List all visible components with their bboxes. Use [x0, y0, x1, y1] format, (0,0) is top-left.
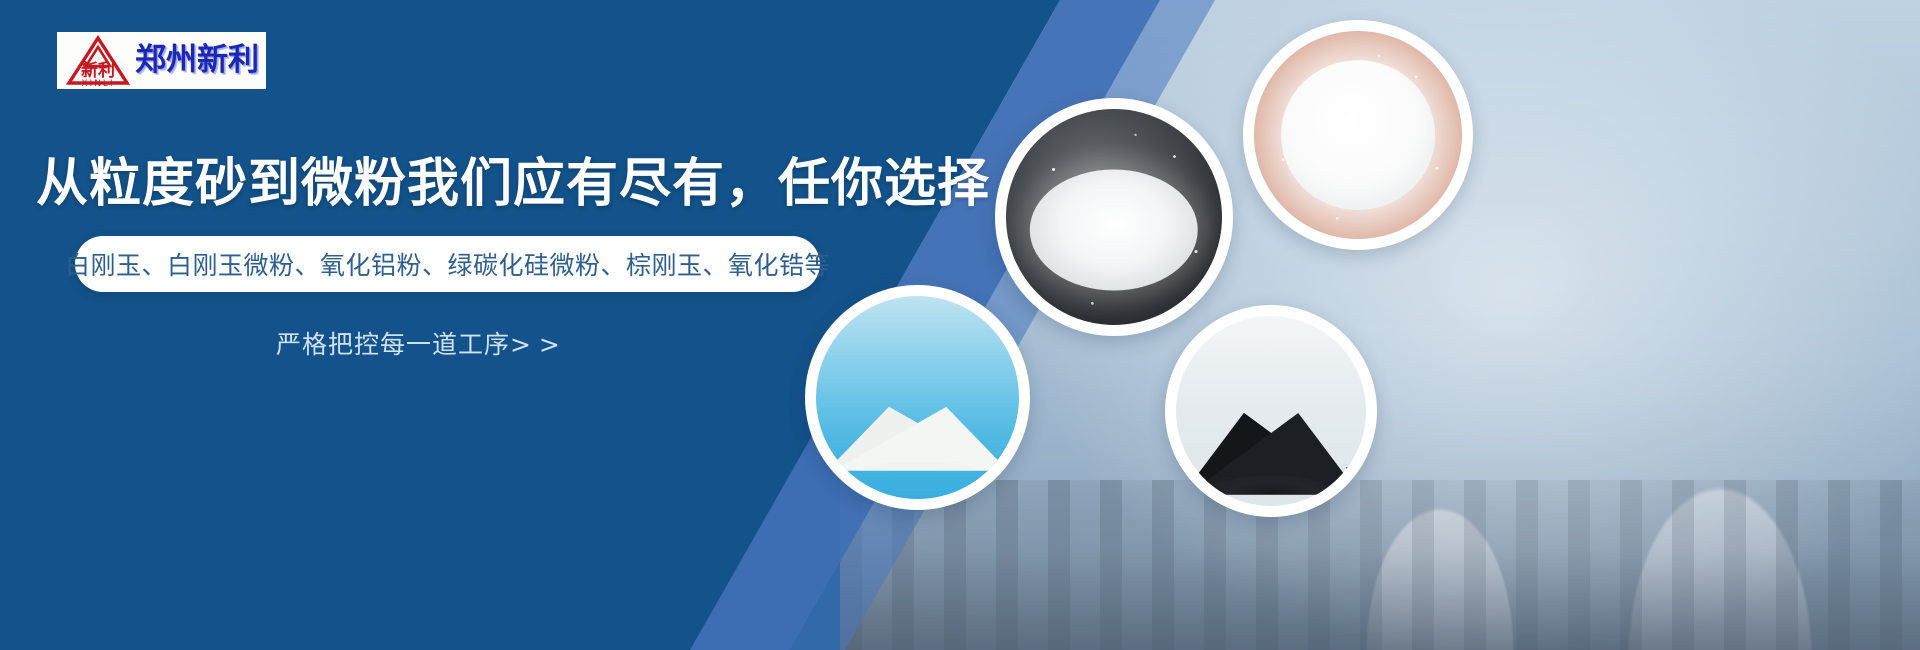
photo-inner: [1176, 316, 1366, 506]
xinli-triangle-mark-icon: 新利 XINLI: [65, 34, 131, 87]
cta-link[interactable]: 严格把控每一道工序> >: [276, 325, 560, 361]
cta-arrows: > >: [510, 330, 560, 359]
product-photo-white-alumina-powder[interactable]: [1243, 20, 1473, 250]
photo-inner: [816, 296, 1019, 499]
product-list-pill: 白刚玉、白刚玉微粉、氧化铝粉、绿碳化硅微粉、棕刚玉、氧化锆等: [75, 236, 820, 292]
mark-text: 新利: [81, 60, 115, 81]
cta-label: 严格把控每一道工序: [276, 330, 510, 359]
promo-banner: 新利 XINLI 郑州新利 从粒度砂到微粉我们应有尽有，任你选择 白刚玉、白刚玉…: [0, 0, 1920, 650]
product-photo-black-silicon-carbide[interactable]: [1165, 305, 1377, 517]
photo-inner: [1006, 109, 1222, 325]
company-name: 郑州新利: [135, 45, 259, 76]
company-logo[interactable]: 新利 XINLI 郑州新利: [57, 32, 266, 89]
mark-pinyin: XINLI: [81, 79, 114, 87]
product-list-text: 白刚玉、白刚玉微粉、氧化铝粉、绿碳化硅微粉、棕刚玉、氧化锆等: [65, 246, 830, 282]
grain-texture: [1254, 31, 1462, 239]
speck-texture: [1176, 316, 1366, 506]
page-title: 从粒度砂到微粉我们应有尽有，任你选择: [36, 141, 990, 216]
photo-inner: [1254, 31, 1462, 239]
grain-texture: [1006, 109, 1222, 325]
product-photo-white-fused-alumina-grit[interactable]: [995, 98, 1233, 336]
product-photo-powder-cone[interactable]: [805, 285, 1030, 510]
